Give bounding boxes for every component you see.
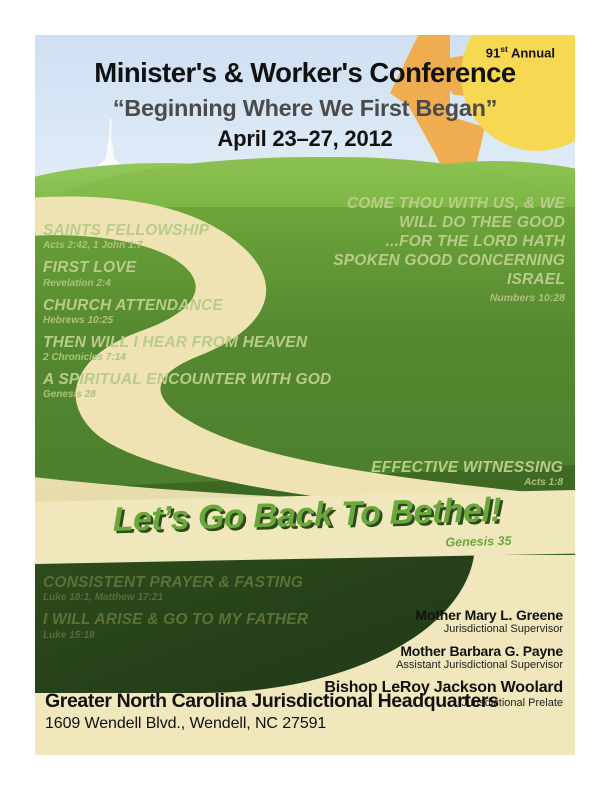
leader-item: Mother Barbara G. Payne Assistant Jurisd… <box>233 643 563 671</box>
organization-address: 1609 Wendell Blvd., Wendell, NC 27591 <box>45 715 565 733</box>
topic-reference: Luke 18:1, Matthew 17:21 <box>43 592 383 603</box>
headline-reference: Genesis 35 <box>445 534 511 550</box>
leader-name: Mother Mary L. Greene <box>233 607 563 623</box>
topic-item: THEN WILL I HEAR FROM HEAVEN 2 Chronicle… <box>43 335 373 363</box>
organization-name: Greater North Carolina Jurisdictional He… <box>45 690 565 713</box>
scripture-line: ISRAEL <box>265 271 565 290</box>
leader-role: Assistant Jurisdictional Supervisor <box>233 659 563 671</box>
annual-badge: 91st Annual <box>486 44 555 60</box>
annual-suffix: st <box>500 44 508 54</box>
poster-page: Minister's & Worker's Conference “Beginn… <box>0 0 612 792</box>
scripture-reference: Numbers 10:28 <box>265 292 565 304</box>
annual-number: 91 <box>486 45 500 60</box>
topic-title: EFFECTIVE WITNESSING <box>243 460 563 476</box>
headline-text: Let’s Go Back To Bethel! <box>112 491 501 540</box>
poster-header: Minister's & Worker's Conference “Beginn… <box>35 35 575 152</box>
conference-dates: April 23–27, 2012 <box>35 126 575 152</box>
topic-title: A SPIRITUAL ENCOUNTER WITH GOD <box>43 372 373 388</box>
topic-item: CONSISTENT PRAYER & FASTING Luke 18:1, M… <box>43 575 383 603</box>
topic-reference: Genesis 28 <box>43 389 373 400</box>
topic-item: A SPIRITUAL ENCOUNTER WITH GOD Genesis 2… <box>43 372 373 400</box>
topic-title: CONSISTENT PRAYER & FASTING <box>43 575 383 591</box>
conference-poster: Minister's & Worker's Conference “Beginn… <box>35 35 575 755</box>
leader-item: Mother Mary L. Greene Jurisdictional Sup… <box>233 607 563 635</box>
scripture-line: WILL DO THEE GOOD <box>265 214 565 233</box>
topic-reference: 2 Chronicles 7:14 <box>43 352 373 363</box>
leader-role: Jurisdictional Supervisor <box>233 623 563 635</box>
page-title: Minister's & Worker's Conference <box>35 57 575 89</box>
topic-title: THEN WILL I HEAR FROM HEAVEN <box>43 335 373 351</box>
scripture-line: SPOKEN GOOD CONCERNING <box>265 252 565 271</box>
scripture-quote: COME THOU WITH US, & WE WILL DO THEE GOO… <box>265 195 565 304</box>
poster-footer: Greater North Carolina Jurisdictional He… <box>45 690 565 733</box>
leader-name: Mother Barbara G. Payne <box>233 643 563 659</box>
topic-reference: Hebrews 10:25 <box>43 315 373 326</box>
headline-group: Let’s Go Back To Bethel! Genesis 35 <box>35 480 575 574</box>
scripture-line: COME THOU WITH US, & WE <box>265 195 565 214</box>
scripture-line: ...FOR THE LORD HATH <box>265 233 565 252</box>
conference-tagline: “Beginning Where We First Began” <box>35 95 575 122</box>
annual-word: Annual <box>511 45 555 60</box>
